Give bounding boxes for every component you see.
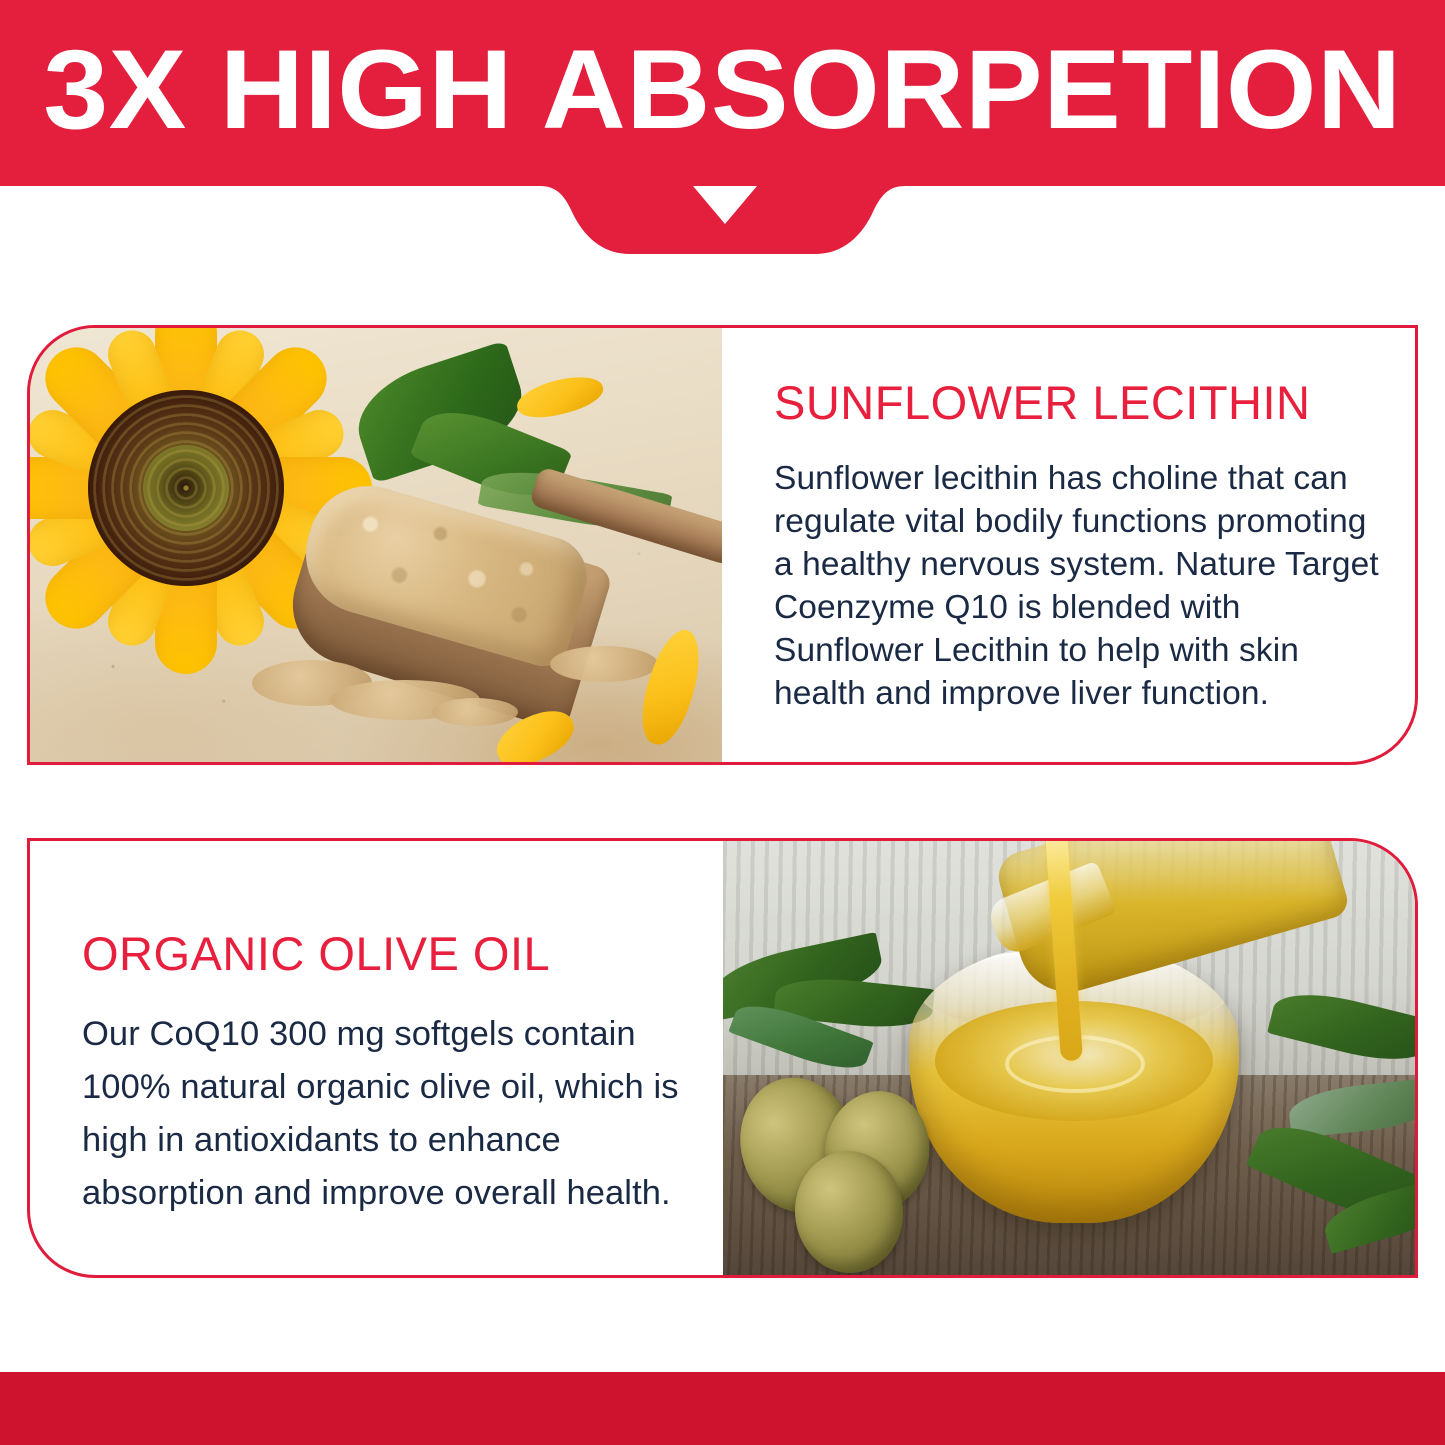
sunflower-photo-background [30, 328, 722, 762]
spilled-powder [432, 698, 518, 726]
sunflower-lecithin-text-block: SUNFLOWER LECITHIN Sunflower lecithin ha… [722, 328, 1415, 762]
header-banner: 3X HIGH ABSORPETION [0, 0, 1445, 186]
sunflower-lecithin-heading: SUNFLOWER LECITHIN [774, 376, 1381, 430]
sunflower-lecithin-photo [30, 328, 722, 762]
footer-bar [0, 1372, 1445, 1445]
header-tab-notch [0, 180, 1445, 260]
sunflower-center [88, 390, 284, 586]
organic-olive-oil-photo [723, 841, 1415, 1275]
ingredient-card-organic-olive-oil: ORGANIC OLIVE OIL Our CoQ10 300 mg softg… [27, 838, 1418, 1278]
sunflower-lecithin-body: Sunflower lecithin has choline that can … [774, 457, 1381, 715]
organic-olive-oil-body: Our CoQ10 300 mg softgels contain 100% n… [82, 1008, 679, 1220]
olive-oil-photo-background [723, 841, 1415, 1275]
organic-olive-oil-text-block: ORGANIC OLIVE OIL Our CoQ10 300 mg softg… [30, 841, 723, 1275]
spilled-powder [550, 646, 658, 682]
down-triangle-icon [693, 186, 757, 224]
header-tab-shape [0, 180, 1445, 260]
ingredient-card-sunflower-lecithin: SUNFLOWER LECITHIN Sunflower lecithin ha… [27, 325, 1418, 765]
page-title: 3X HIGH ABSORPETION [0, 28, 1445, 152]
infographic-page: 3X HIGH ABSORPETION [0, 0, 1445, 1445]
organic-olive-oil-heading: ORGANIC OLIVE OIL [82, 927, 679, 981]
